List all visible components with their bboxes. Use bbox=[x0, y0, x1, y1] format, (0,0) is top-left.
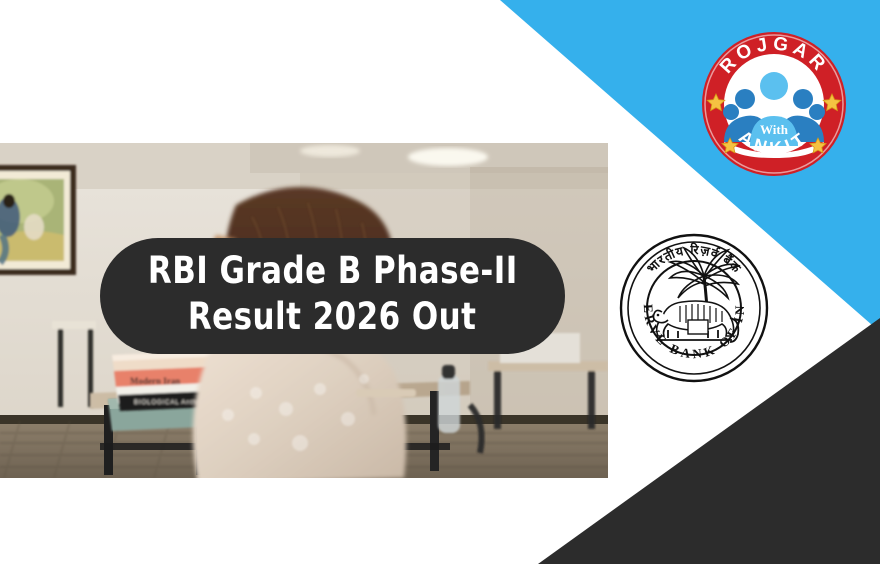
featured-image-banner: Modern Iran BIOLOGICAL Anthropology bbox=[0, 0, 880, 564]
title-banner: RBI Grade B Phase-II Result 2026 Out bbox=[100, 238, 565, 354]
logo-center-text: With bbox=[760, 122, 789, 137]
title-line-1: RBI Grade B Phase-II bbox=[148, 248, 518, 294]
svg-text:Modern Iran: Modern Iran bbox=[130, 376, 180, 386]
rojgar-with-ankit-logo: With ROJGAR ANKIT bbox=[700, 30, 848, 178]
title-line-2: Result 2026 Out bbox=[188, 294, 477, 340]
reserve-bank-of-india-seal: भारतीय रिज़र्व बैंक · RESERVE BANK OF IN… bbox=[618, 232, 770, 384]
